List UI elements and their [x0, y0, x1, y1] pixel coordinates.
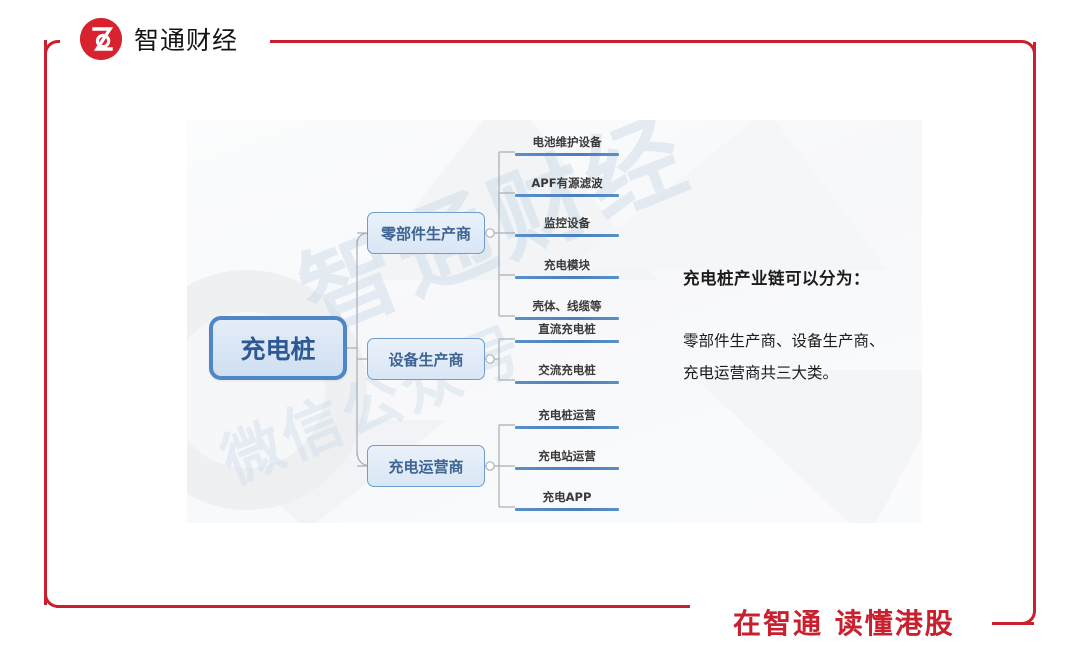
mindmap-leaf[interactable]: 电池维护设备: [515, 134, 619, 159]
mindmap-leaf-label: 充电桩运营: [538, 408, 596, 422]
mindmap-leaf-label: 监控设备: [544, 216, 590, 230]
brand-circle-z-logo-icon: [80, 18, 122, 60]
mindmap-leaf-underline: [515, 194, 619, 197]
mindmap-leaf-label: 充电模块: [544, 258, 590, 272]
mindmap-leaf-underline: [515, 340, 619, 343]
mindmap-root-node[interactable]: 充电桩: [209, 316, 347, 380]
side-text-body-line-1: 零部件生产商、设备生产商、: [683, 325, 918, 357]
mindmap-branch-parts-label: 零部件生产商: [381, 223, 471, 244]
mindmap-leaf-label: APF有源滤波: [531, 176, 602, 190]
mindmap-branch-equipment[interactable]: 设备生产商: [367, 338, 485, 380]
mindmap-leaf-underline: [515, 234, 619, 237]
frame-border-top: [270, 40, 1022, 43]
mindmap-leaf[interactable]: 直流充电桩: [515, 321, 619, 346]
side-text-body: 零部件生产商、设备生产商、 充电运营商共三大类。: [683, 325, 918, 389]
mindmap-branch-equipment-label: 设备生产商: [388, 349, 463, 370]
mindmap-leaf-underline: [515, 317, 619, 320]
header: 智通财经: [80, 18, 248, 60]
mindmap-leaf-underline: [515, 153, 619, 156]
mindmap-branch-operator[interactable]: 充电运营商: [367, 445, 485, 487]
frame-border-left: [44, 40, 47, 605]
frame-border-bottom-left: [56, 605, 690, 608]
mindmap-leaf-label: 壳体、线缆等: [533, 299, 602, 313]
mindmap-leaf-underline: [515, 426, 619, 429]
mindmap-leaf-label: 充电站运营: [538, 449, 596, 463]
mindmap-leaf-label: 电池维护设备: [533, 135, 602, 149]
mindmap-leaf[interactable]: 充电站运营: [515, 448, 619, 473]
mindmap-leaf-underline: [515, 508, 619, 511]
frame-border-right: [1033, 42, 1036, 612]
mindmap-leaf-label: 交流充电桩: [538, 363, 596, 377]
mindmap-leaf[interactable]: 交流充电桩: [515, 362, 619, 387]
mindmap-leaf[interactable]: 充电桩运营: [515, 407, 619, 432]
mindmap-root-label: 充电桩: [240, 330, 315, 366]
mindmap-leaf[interactable]: APF有源滤波: [515, 175, 619, 200]
brand-name: 智通财经: [134, 21, 238, 57]
side-text-heading: 充电桩产业链可以分为：: [683, 265, 918, 289]
mindmap-leaf-label: 直流充电桩: [538, 322, 596, 336]
mindmap-leaf[interactable]: 充电模块: [515, 257, 619, 282]
mindmap-leaf-underline: [515, 276, 619, 279]
side-text-panel: 充电桩产业链可以分为： 零部件生产商、设备生产商、 充电运营商共三大类。: [683, 265, 918, 389]
mindmap-leaf-label: 充电APP: [543, 490, 592, 504]
mindmap-leaf[interactable]: 壳体、线缆等: [515, 298, 619, 323]
side-text-body-line-2: 充电运营商共三大类。: [683, 357, 918, 389]
mindmap-leaf[interactable]: 监控设备: [515, 215, 619, 240]
mindmap-leaf[interactable]: 充电APP: [515, 489, 619, 514]
mindmap-leaf-underline: [515, 381, 619, 384]
mindmap-branch-operator-label: 充电运营商: [388, 456, 463, 477]
mindmap-leaf-underline: [515, 467, 619, 470]
footer-slogan: 在智通 读懂港股: [727, 602, 961, 642]
mindmap-branch-parts[interactable]: 零部件生产商: [367, 212, 485, 254]
frame-border-bottom-right: [992, 622, 1034, 625]
